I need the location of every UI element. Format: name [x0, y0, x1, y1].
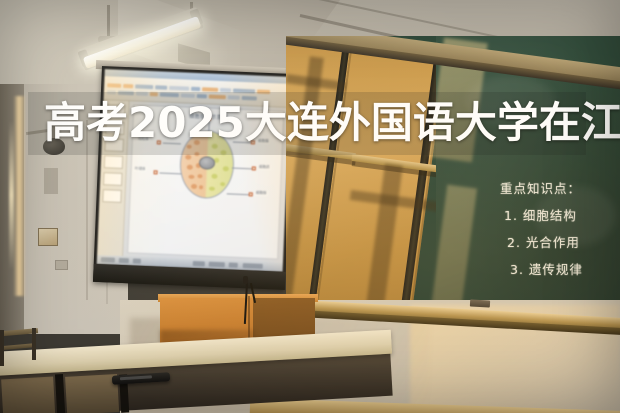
slide-label: 细胞质: [258, 165, 271, 171]
blackboard-item: 1. 细胞结构: [504, 205, 577, 224]
wall-poster: [38, 228, 58, 246]
blackboard-item: 2. 光合作用: [507, 232, 580, 251]
blackboard-eraser[interactable]: [470, 299, 490, 307]
blackboard-item: 3. 遗传规律: [510, 259, 583, 278]
remote-buttons: [120, 375, 152, 380]
label-marker: [249, 192, 253, 196]
slide-thumbnail[interactable]: [103, 172, 123, 186]
slide-label: 细胞核: [255, 191, 268, 197]
blackboard-heading: 重点知识点：: [500, 178, 581, 197]
shelf-leg: [32, 328, 36, 360]
wall-mount-bracket: [44, 168, 58, 194]
label-marker: [252, 166, 256, 170]
shelf-leg: [0, 330, 4, 366]
lamp-suspension-rod: [107, 5, 110, 39]
slide-label: 叶绿体: [134, 166, 147, 172]
sunlight-strip-core: [9, 120, 14, 270]
label-marker: [154, 170, 158, 174]
microphone-icon: [243, 276, 248, 284]
slide-thumbnail[interactable]: [104, 155, 124, 169]
sunlight-strip: [14, 96, 25, 296]
classroom-screenshot: 细胞结构示意图: [0, 0, 620, 413]
slide-thumbnail[interactable]: [102, 189, 122, 203]
wall-outlet: [55, 260, 68, 270]
page-title: 高考2025大连外国语大学在江西投: [44, 97, 584, 149]
